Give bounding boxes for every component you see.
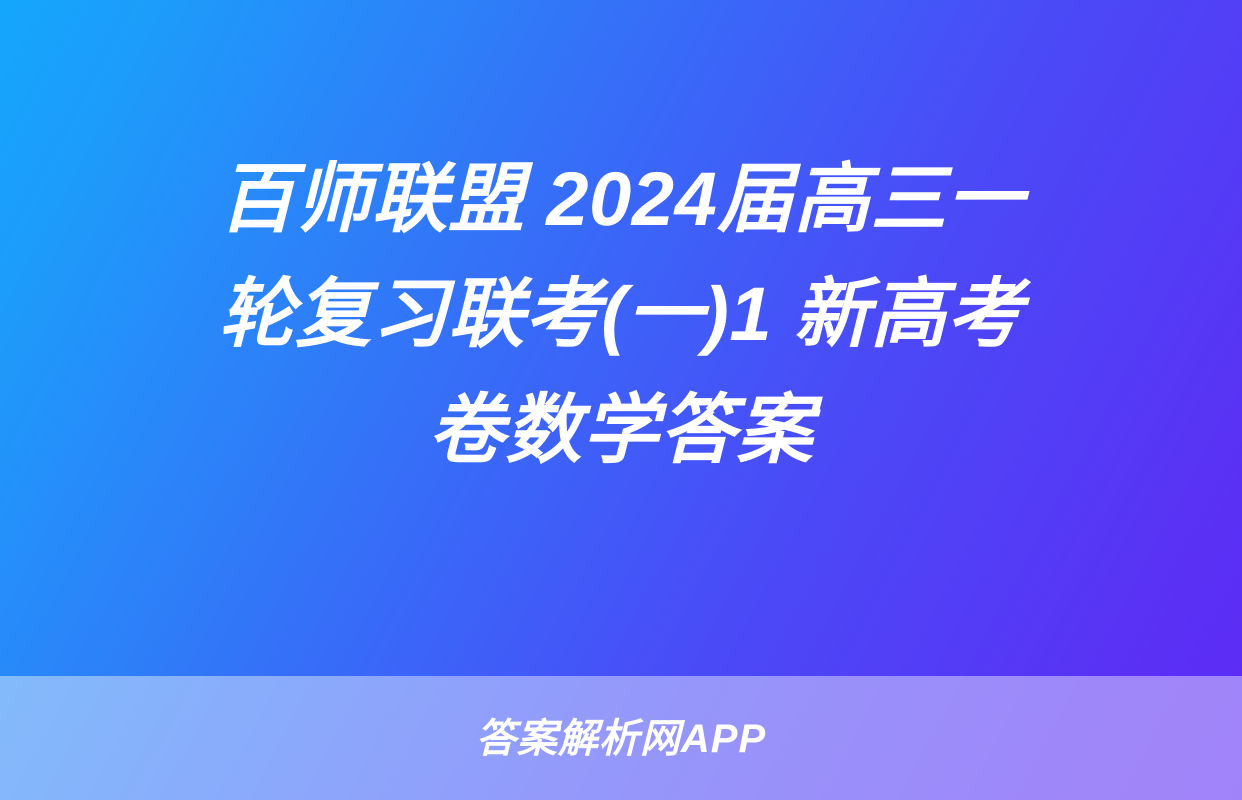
poster-background: 百师联盟 2024届高三一 轮复习联考(一)1 新高考 卷数学答案 答案解析网A… — [0, 0, 1242, 800]
watermark-label: 答案解析网APP — [476, 719, 766, 759]
headline-line-3: 卷数学答案 — [46, 373, 1196, 489]
headline-block: 百师联盟 2024届高三一 轮复习联考(一)1 新高考 卷数学答案 — [0, 0, 1242, 676]
headline-line-2: 轮复习联考(一)1 新高考 — [46, 257, 1196, 373]
headline-line-1: 百师联盟 2024届高三一 — [46, 142, 1196, 258]
watermark-band: 答案解析网APP — [0, 676, 1242, 800]
